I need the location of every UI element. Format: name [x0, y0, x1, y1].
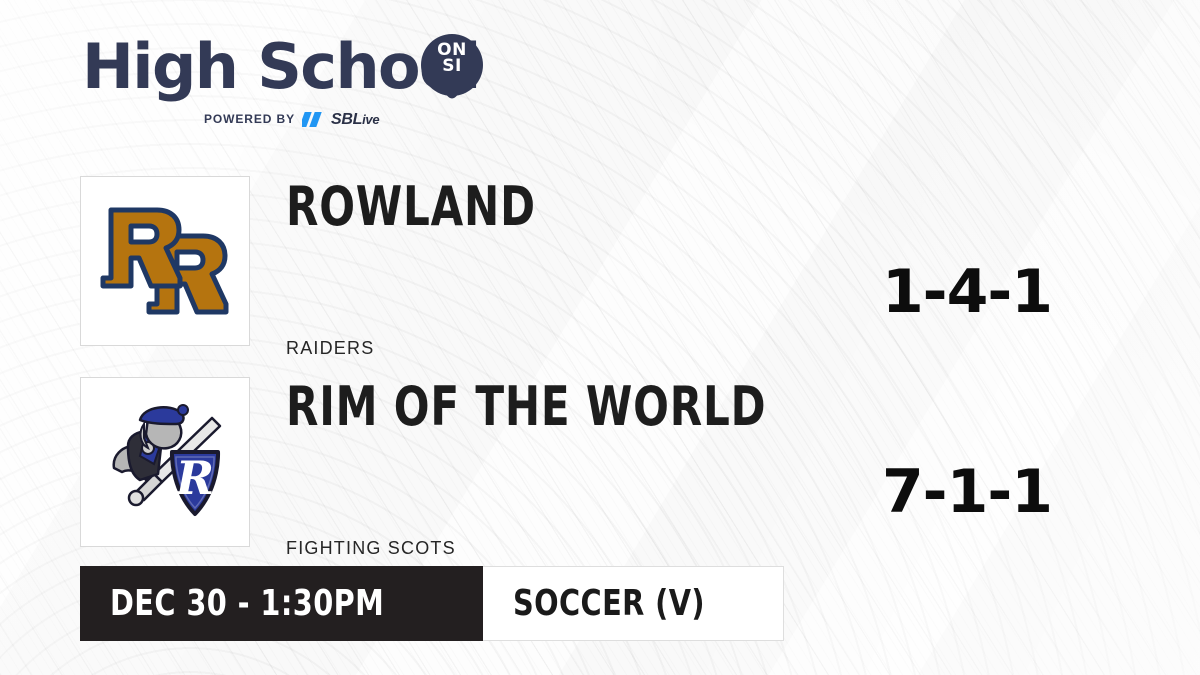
on-si-pin-icon: ON SI — [421, 34, 483, 96]
game-datetime-box: DEC 30 - 1:30PM — [80, 566, 483, 641]
game-datetime: DEC 30 - 1:30PM — [110, 586, 384, 622]
team-2-record: 7-1-1 — [882, 462, 1052, 522]
game-sport-box: SOCCER (V) — [483, 566, 784, 641]
sblive-suffix: ive — [362, 112, 379, 127]
rim-of-the-world-fighting-scots-logo: R — [100, 402, 230, 522]
brand-lockup: High School ON SI POWERED BY SBLive — [82, 36, 512, 136]
team-2-mascot: FIGHTING SCOTS — [286, 538, 456, 559]
rowland-raiders-logo — [99, 200, 231, 322]
game-sport: SOCCER (V) — [513, 586, 705, 622]
team-1-name: ROWLAND — [286, 180, 536, 234]
team-1-mascot: RAIDERS — [286, 338, 374, 359]
team-1-record: 1-4-1 — [882, 262, 1052, 322]
matchup-graphic: High School ON SI POWERED BY SBLive — [0, 0, 1200, 675]
team-2-logo-card: R — [80, 377, 250, 547]
on-si-badge-line2: SI — [421, 58, 483, 74]
sblive-chevron-icon — [302, 112, 324, 127]
svg-text:R: R — [174, 451, 214, 505]
game-info-banner: DEC 30 - 1:30PM SOCCER (V) — [80, 566, 784, 641]
powered-by-label: POWERED BY — [204, 112, 295, 126]
sblive-wordmark: SBLive — [331, 112, 379, 127]
team-2-name: RIM OF THE WORLD — [286, 380, 766, 434]
sblive-main: SBL — [331, 111, 362, 128]
team-1-logo-card — [80, 176, 250, 346]
powered-by-lockup: POWERED BY SBLive — [204, 110, 379, 128]
